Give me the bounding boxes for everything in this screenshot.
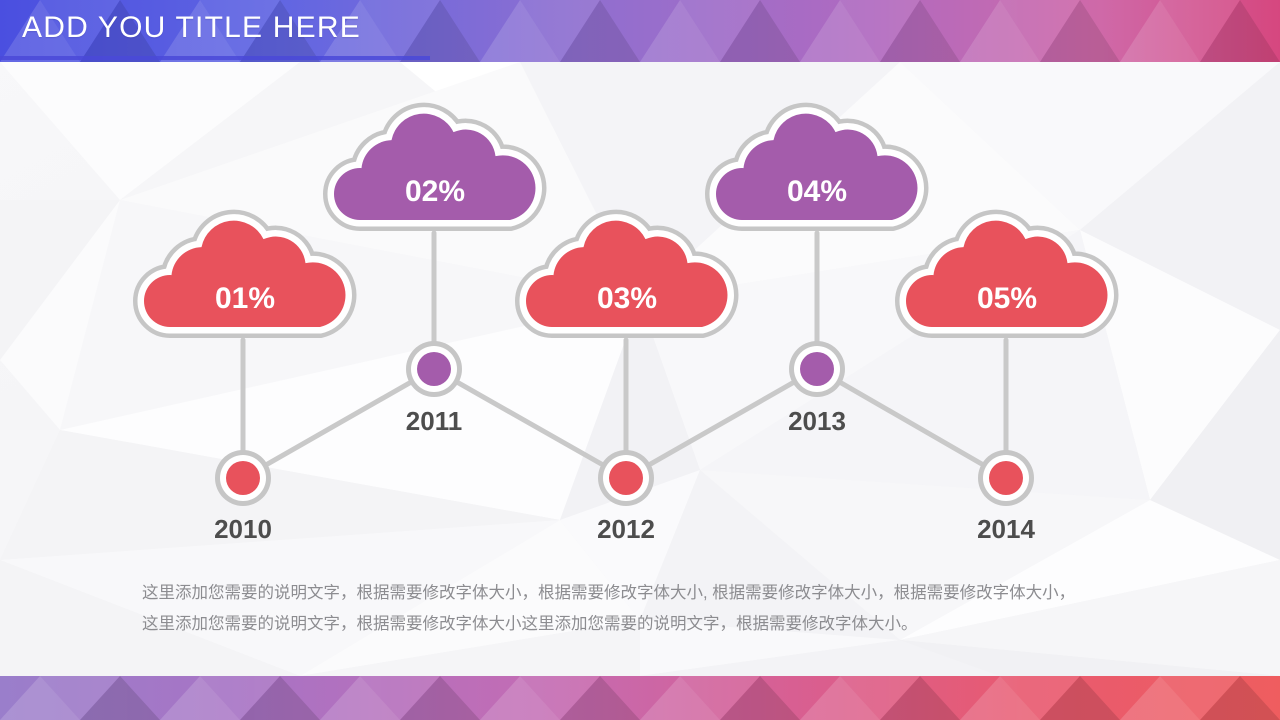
node-dot	[800, 352, 834, 386]
node-2014[interactable]: 2014	[977, 450, 1035, 544]
year-label: 2014	[977, 514, 1035, 544]
cloud-04[interactable]: 04%	[716, 114, 917, 220]
caption-line-1: 这里添加您需要的说明文字，根据需要修改字体大小，根据需要修改字体大小, 根据需要…	[142, 578, 1202, 609]
cloud-01[interactable]: 01%	[144, 221, 345, 327]
node-dot	[609, 461, 643, 495]
cloud-value-label: 01%	[215, 282, 275, 315]
caption-line-2: 这里添加您需要的说明文字，根据需要修改字体大小这里添加您需要的说明文字，根据需要…	[142, 609, 1202, 640]
node-dot	[226, 461, 260, 495]
cloud-03[interactable]: 03%	[526, 221, 727, 327]
year-label: 2012	[597, 514, 655, 544]
node-2013[interactable]: 2013	[788, 341, 846, 436]
cloud-02[interactable]: 02%	[334, 114, 535, 220]
year-label: 2010	[214, 514, 272, 544]
year-label: 2011	[406, 406, 462, 436]
cloud-value-label: 05%	[977, 282, 1037, 315]
footer-band	[0, 676, 1280, 720]
node-2012[interactable]: 2012	[597, 450, 655, 544]
cloud-value-label: 02%	[405, 175, 465, 208]
node-dot	[989, 461, 1023, 495]
node-dot	[417, 352, 451, 386]
cloud-value-label: 03%	[597, 282, 657, 315]
cloud-value-label: 04%	[787, 175, 847, 208]
year-label: 2013	[788, 406, 846, 436]
slide-canvas: ADD YOU TITLE HERE	[0, 0, 1280, 720]
cloud-05[interactable]: 05%	[906, 221, 1107, 327]
node-2011[interactable]: 2011	[406, 341, 462, 436]
footer-triangle-pattern	[0, 676, 1280, 720]
caption-block: 这里添加您需要的说明文字，根据需要修改字体大小，根据需要修改字体大小, 根据需要…	[142, 578, 1202, 640]
node-2010[interactable]: 2010	[214, 450, 272, 544]
